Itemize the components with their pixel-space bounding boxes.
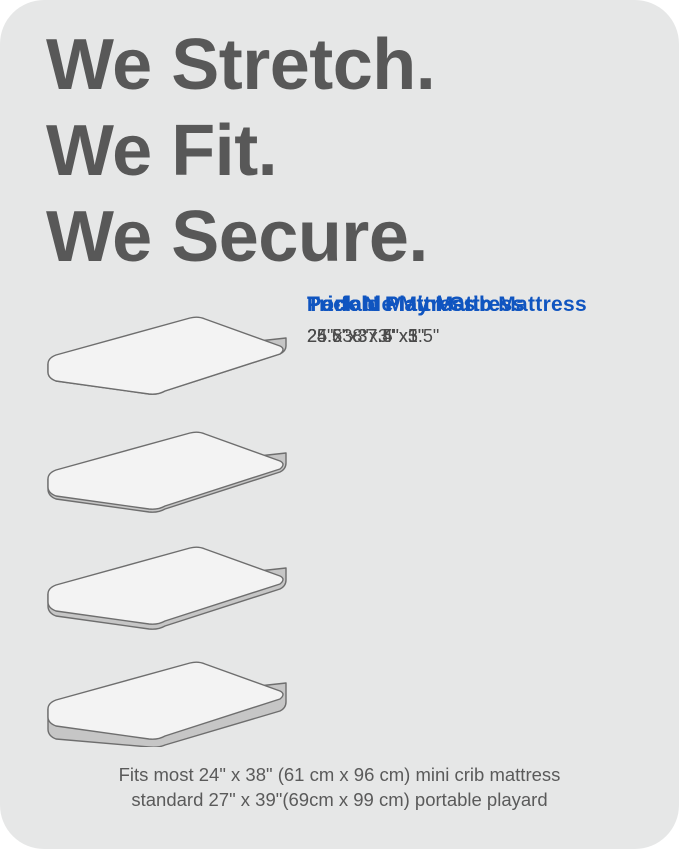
- headline-line-3: We Secure.: [46, 194, 646, 280]
- mattress-slab-icon: [30, 417, 292, 517]
- mattress-illustration-4: [30, 647, 290, 763]
- mattress-slab-icon: [30, 532, 292, 632]
- headline-block: We Stretch. We Fit. We Secure.: [46, 22, 646, 280]
- mattress-slab-icon: [30, 647, 292, 747]
- product-title-4: Pack N Play Mattress: [307, 292, 667, 318]
- mattress-slab-icon: [30, 302, 292, 402]
- mattress-illustration-1: [30, 302, 290, 418]
- product-text-4: Pack N Play Mattress 25.5"x37.5"x5": [307, 292, 667, 347]
- footer-line-2: standard 27" x 39"(69cm x 99 cm) portabl…: [0, 787, 679, 812]
- product-infographic: We Stretch. We Fit. We Secure. Tri-fold …: [0, 0, 679, 849]
- mattress-illustration-2: [30, 417, 290, 533]
- mattress-illustration-3: [30, 532, 290, 648]
- footer-line-1: Fits most 24" x 38" (61 cm x 96 cm) mini…: [0, 762, 679, 787]
- footer-note: Fits most 24" x 38" (61 cm x 96 cm) mini…: [0, 762, 679, 812]
- infographic-card: We Stretch. We Fit. We Secure. Tri-fold …: [0, 0, 679, 849]
- headline-line-1: We Stretch.: [46, 22, 646, 108]
- product-dimensions-4: 25.5"x37.5"x5": [307, 325, 667, 347]
- headline-line-2: We Fit.: [46, 108, 646, 194]
